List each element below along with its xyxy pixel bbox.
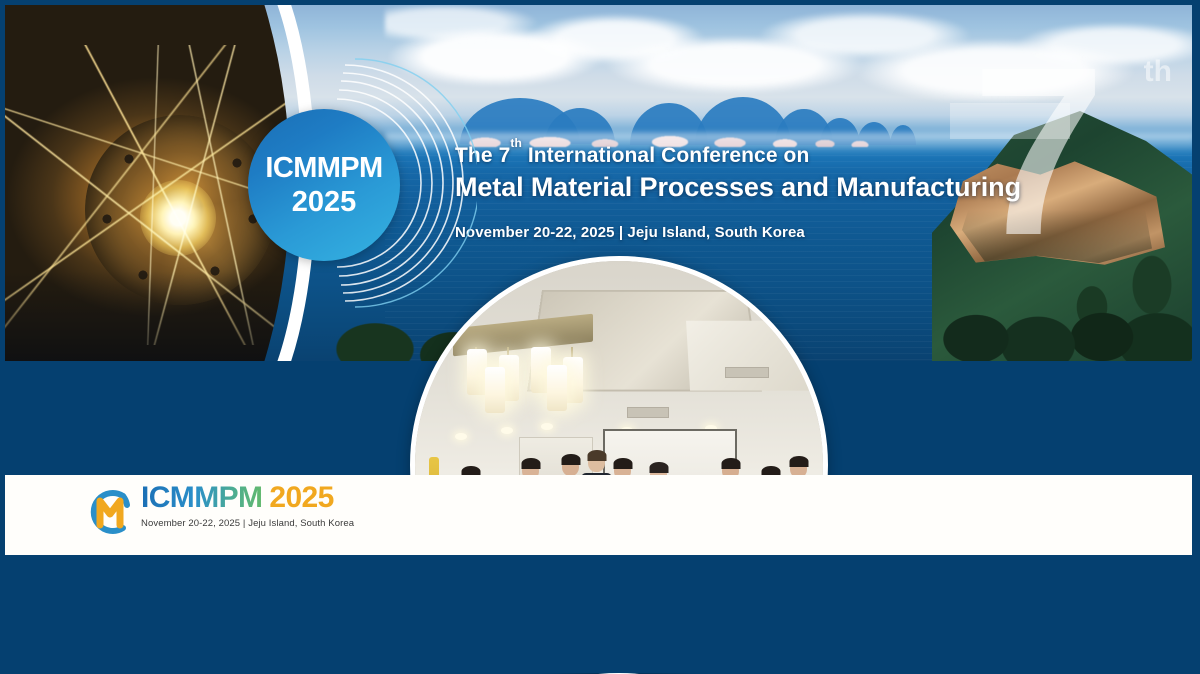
chandelier-lamp <box>467 349 487 395</box>
chandelier-lamp <box>547 365 567 411</box>
footer-wordmark: ICMMPM2025 <box>141 483 354 513</box>
downlight <box>455 433 467 440</box>
downlight <box>541 423 553 430</box>
ceiling-panel-inner <box>686 321 828 391</box>
footer-year: 2025 <box>269 481 333 514</box>
badge-year: 2025 <box>292 187 357 218</box>
spark-core-glow <box>140 180 216 256</box>
conference-main-title: Metal Material Processes and Manufacturi… <box>455 172 1035 203</box>
footer-subtitle: November 20-22, 2025 | Jeju Island, Sout… <box>141 518 354 529</box>
footer-logo-bar: ICMMPM2025 November 20-22, 2025 | Jeju I… <box>5 475 1192 555</box>
footer-acronym: ICMMPM <box>141 481 262 514</box>
footer-logo-text: ICMMPM2025 November 20-22, 2025 | Jeju I… <box>141 483 354 529</box>
conference-logo-badge: ICMMPM 2025 <box>248 109 400 261</box>
downlight <box>501 427 513 434</box>
ordinal-suffix: th <box>510 136 522 150</box>
ceiling-vent <box>725 367 769 378</box>
conference-date-venue: November 20-22, 2025 | Jeju Island, Sout… <box>455 224 1035 241</box>
badge-acronym: ICMMPM <box>265 153 382 184</box>
banner-page: 7 th The 7th International Conference on… <box>0 0 1200 673</box>
conference-title-block: The 7th International Conference on Meta… <box>455 143 1035 241</box>
footer-logo[interactable]: ICMMPM2025 November 20-22, 2025 | Jeju I… <box>83 483 354 537</box>
conference-subtitle-line: The 7th International Conference on <box>455 143 1035 168</box>
chandelier-lamp <box>485 367 505 413</box>
icmmpm-logo-icon <box>83 487 135 537</box>
bottom-background <box>0 555 1200 673</box>
ceiling-vent <box>627 407 669 418</box>
edition-suffix: th <box>1144 55 1172 89</box>
title-suffix: International Conference on <box>522 144 810 167</box>
